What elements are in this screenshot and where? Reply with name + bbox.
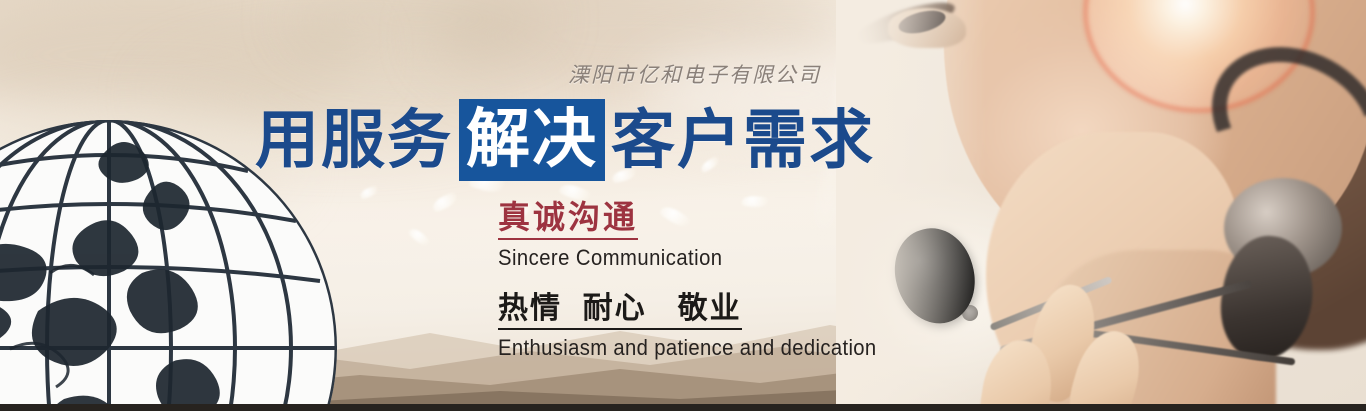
- headline-highlight: 解决: [459, 99, 605, 181]
- promotional-banner: 溧阳市亿和电子有限公司 用服务 解决 客户需求 真诚沟通 Sincere Com…: [0, 0, 1366, 411]
- bottom-bar: [0, 404, 1366, 411]
- headset-operator-photo: [836, 0, 1366, 405]
- slogan-en-primary: Sincere Communication: [498, 245, 877, 271]
- headline: 用服务 解决 客户需求: [255, 99, 875, 181]
- slogan-group: 真诚沟通 Sincere Communication 热情 耐心 敬业 Enth…: [498, 199, 909, 361]
- headline-prefix: 用服务: [255, 108, 453, 172]
- slogan-en-secondary: Enthusiasm and patience and dedication: [498, 335, 877, 361]
- headline-suffix: 客户需求: [611, 108, 875, 172]
- slogan-cn-primary: 真诚沟通: [498, 199, 638, 240]
- slogan-cn-secondary: 热情 耐心 敬业: [498, 291, 742, 330]
- company-name: 溧阳市亿和电子有限公司: [568, 59, 821, 89]
